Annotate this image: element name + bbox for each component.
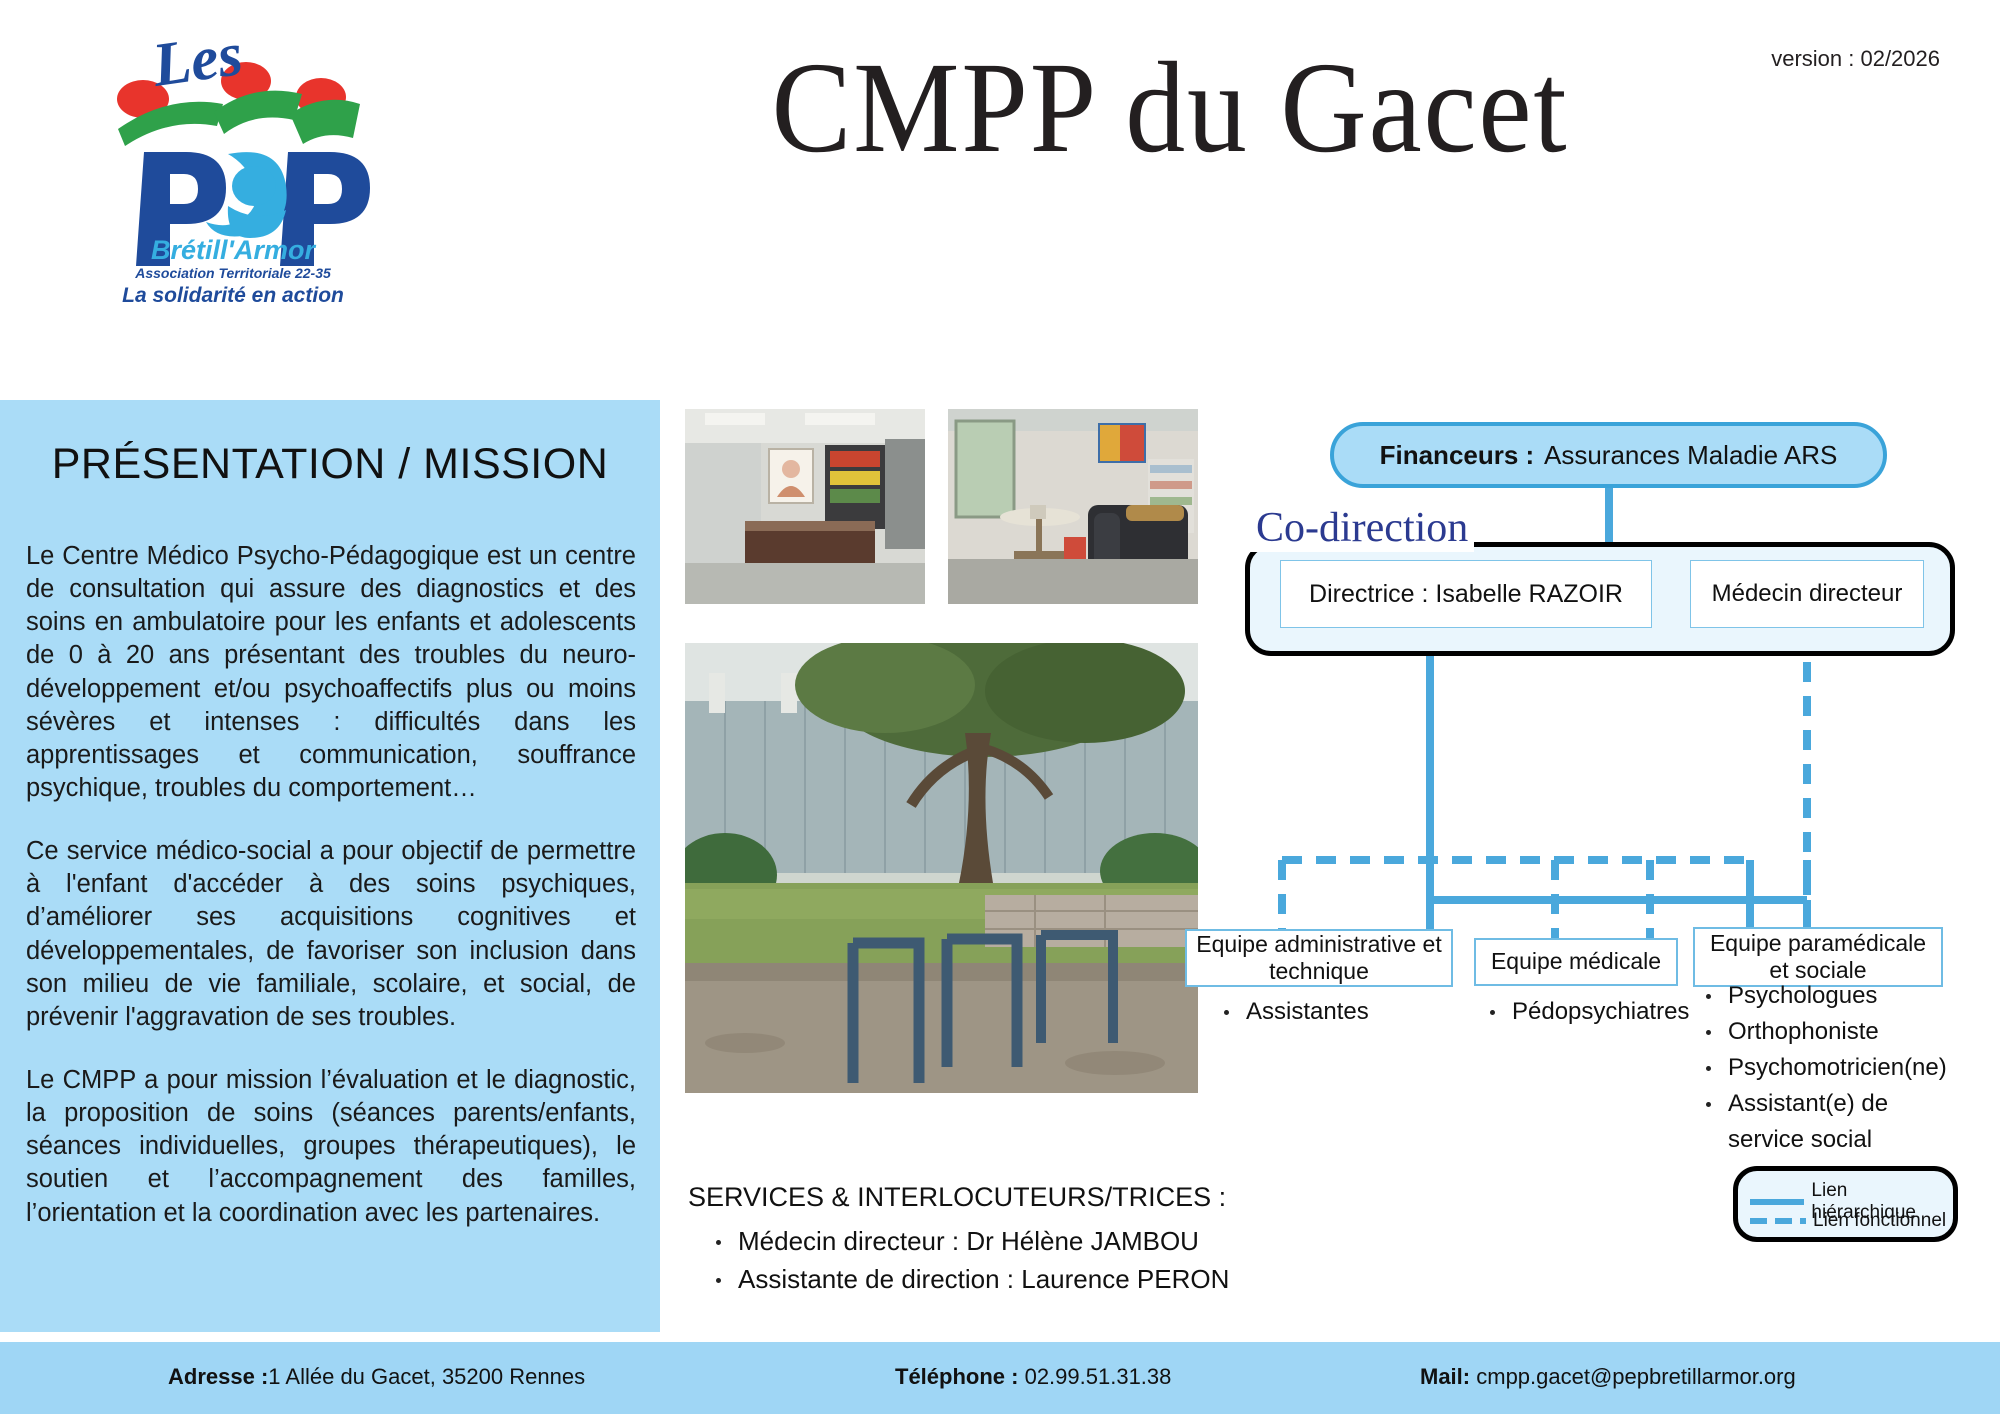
list-item: Assistant(e) de service social [1702, 1086, 1958, 1158]
panel-divider [660, 400, 663, 1332]
financeurs-label: Financeurs : [1380, 440, 1535, 470]
codirection-label: Co-direction [1250, 504, 1474, 552]
photo-reception-desk [685, 409, 925, 604]
presentation-paragraph-1: Le Centre Médico Psycho-Pédagogique est … [26, 540, 636, 805]
list-item: Médecin directeur : Dr Hélène JAMBOU [714, 1223, 1248, 1261]
directrice-label: Directrice : Isabelle RAZOIR [1309, 580, 1623, 609]
services-section: SERVICES & INTERLOCUTEURS/TRICES : Médec… [688, 1182, 1248, 1299]
team-label: Equipe paramédicale et sociale [1701, 930, 1935, 984]
footer-mail-label: Mail: [1420, 1364, 1470, 1389]
solid-line-icon [1750, 1199, 1804, 1205]
team-members-administrative: Assistantes [1220, 994, 1369, 1030]
footer-address-label: Adresse : [168, 1364, 268, 1389]
org-chart-legend: Lien hiérarchique Lien fonctionnel [1733, 1166, 1958, 1242]
footer-phone: Téléphone : 02.99.51.31.38 [895, 1364, 1171, 1390]
logo-line-solidarite: La solidarité en action [122, 284, 344, 304]
services-title: SERVICES & INTERLOCUTEURS/TRICES : [688, 1182, 1248, 1213]
medecin-directeur-label: Médecin directeur [1712, 580, 1903, 608]
les-pep-logo: Les Brétill'Armor Association Territoria… [78, 14, 388, 304]
page-header: Les Brétill'Armor Association Territoria… [0, 0, 2000, 382]
logo-line-association: Association Territoriale 22-35 [134, 265, 331, 281]
team-members-paramedicale: Psychologues Orthophoniste Psychomotrici… [1702, 978, 1958, 1158]
list-item: Assistantes [1220, 994, 1369, 1030]
org-chart: Financeurs : Assurances Maladie ARS Co-d… [1190, 400, 2000, 1332]
footer-phone-value: 02.99.51.31.38 [1025, 1364, 1172, 1389]
list-item: Orthophoniste [1702, 1014, 1958, 1050]
page-title: CMPP du Gacet [572, 40, 1768, 177]
list-item: Psychomotricien(ne) [1702, 1050, 1958, 1086]
team-members-medicale: Pédopsychiatres [1486, 994, 1689, 1030]
version-label: version : 02/2026 [1771, 46, 1940, 72]
financeurs-value: Assurances Maladie ARS [1544, 440, 1837, 470]
presentation-title: PRÉSENTATION / MISSION [0, 440, 660, 489]
photo-playroom [948, 409, 1198, 604]
svg-text:Les: Les [147, 20, 246, 100]
footer-address: Adresse :1 Allée du Gacet, 35200 Rennes [168, 1364, 585, 1390]
presentation-panel: PRÉSENTATION / MISSION Le Centre Médico … [0, 400, 660, 1332]
team-label: Equipe administrative et technique [1193, 931, 1445, 985]
services-list: Médecin directeur : Dr Hélène JAMBOU Ass… [688, 1223, 1248, 1299]
team-label: Equipe médicale [1491, 948, 1661, 975]
org-node-equipe-administrative: Equipe administrative et technique [1185, 929, 1453, 987]
footer-address-value: 1 Allée du Gacet, 35200 Rennes [268, 1364, 585, 1389]
org-node-medecin-directeur: Médecin directeur [1690, 560, 1924, 628]
poster-page: Les Brétill'Armor Association Territoria… [0, 0, 2000, 1414]
org-node-directrice: Directrice : Isabelle RAZOIR [1280, 560, 1652, 628]
list-item: Psychologues [1702, 978, 1958, 1014]
list-item: Assistante de direction : Laurence PERON [714, 1261, 1248, 1299]
list-item: Pédopsychiatres [1486, 994, 1689, 1030]
legend-row-fonctionnel: Lien fonctionnel [1750, 1210, 1946, 1232]
photo-garden-exterior [685, 643, 1198, 1093]
dashed-line-icon [1750, 1218, 1806, 1224]
presentation-paragraph-3: Le CMPP a pour mission l’évaluation et l… [26, 1064, 636, 1230]
footer-mail: Mail: cmpp.gacet@pepbretillarmor.org [1420, 1364, 1796, 1390]
presentation-body: Le Centre Médico Psycho-Pédagogique est … [26, 540, 636, 1260]
footer-mail-value: cmpp.gacet@pepbretillarmor.org [1476, 1364, 1795, 1389]
logo-line-bretill: Brétill'Armor [151, 235, 316, 265]
page-footer: Adresse :1 Allée du Gacet, 35200 Rennes … [0, 1342, 2000, 1414]
legend-label: Lien fonctionnel [1813, 1210, 1946, 1232]
org-node-financeurs: Financeurs : Assurances Maladie ARS [1330, 422, 1887, 488]
footer-phone-label: Téléphone : [895, 1364, 1018, 1389]
presentation-paragraph-2: Ce service médico-social a pour objectif… [26, 835, 636, 1034]
org-node-equipe-medicale: Equipe médicale [1474, 938, 1678, 986]
